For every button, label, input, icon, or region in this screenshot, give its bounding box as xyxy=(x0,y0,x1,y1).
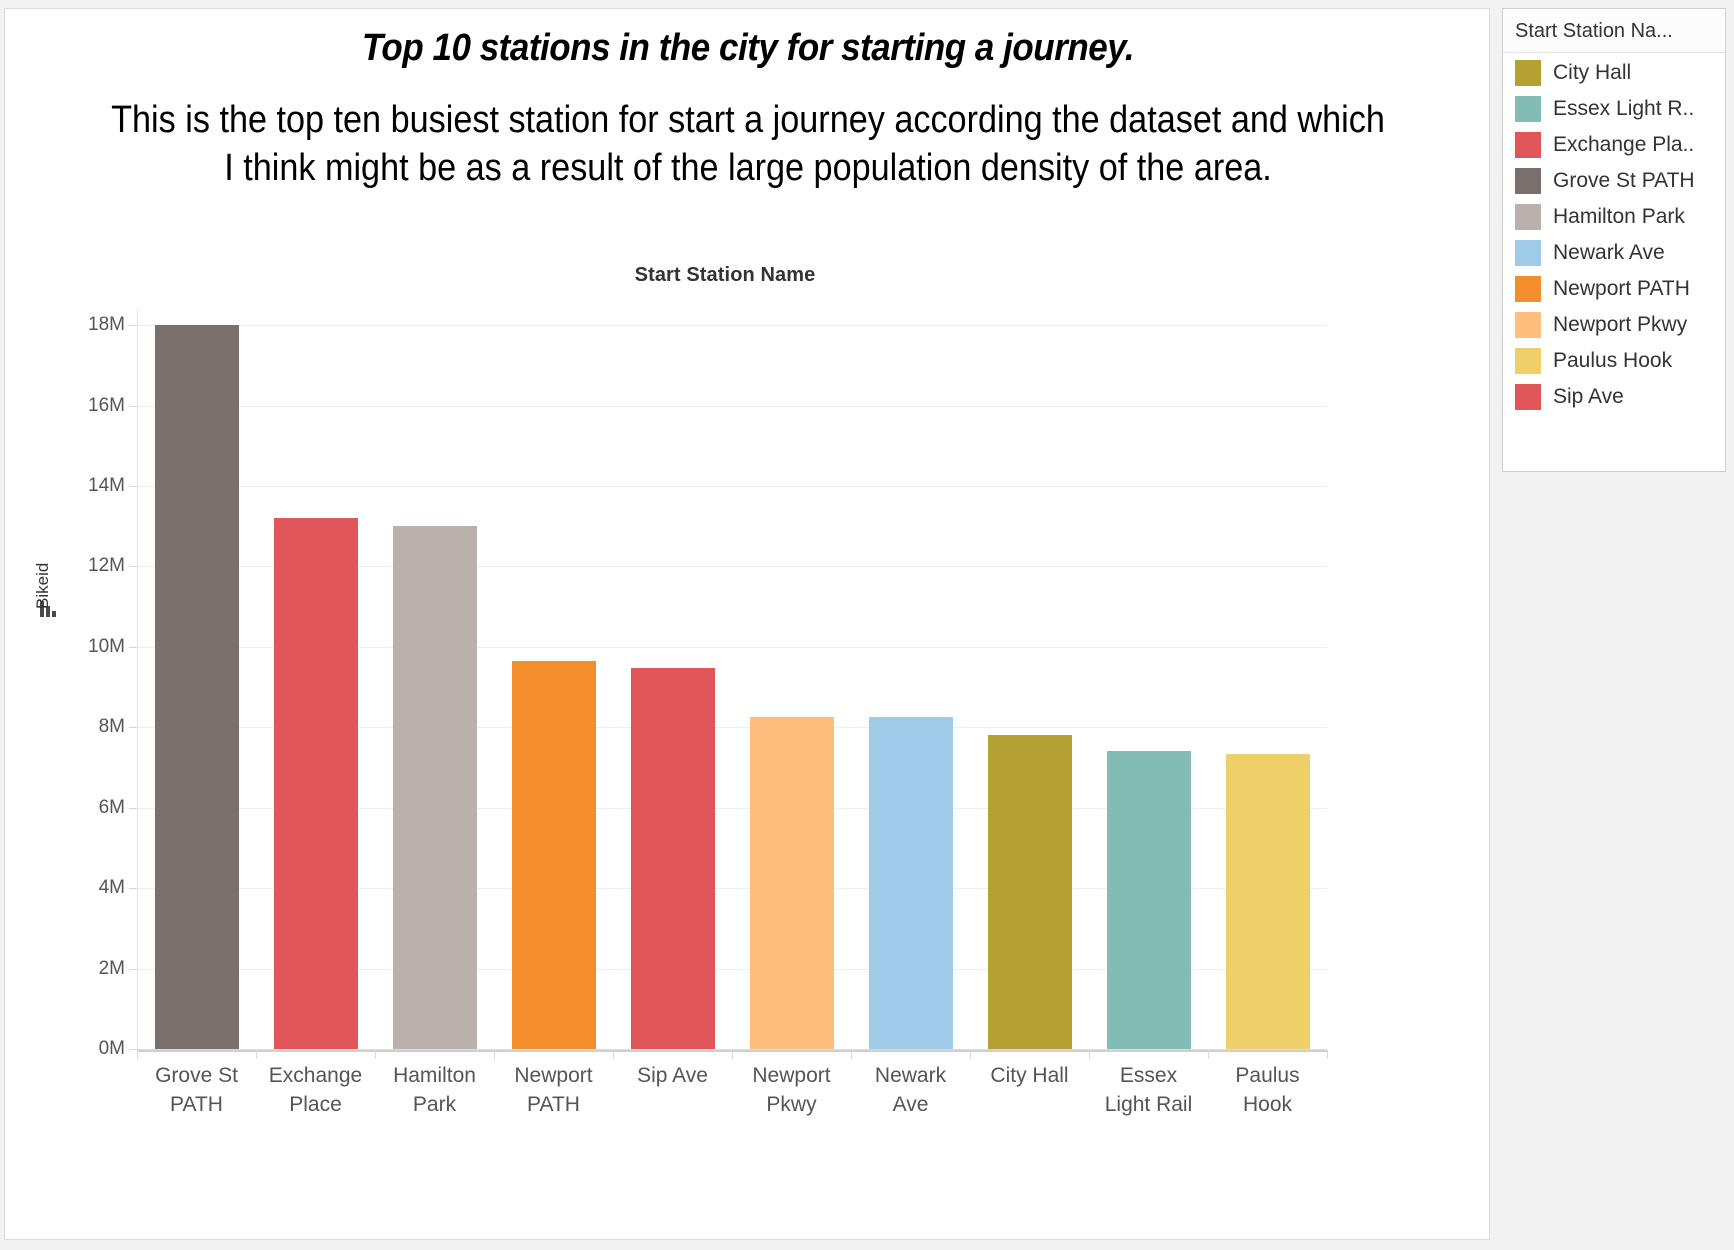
x-tick-mark xyxy=(1208,1050,1209,1059)
plot-area: Bikeid 0M2M4M6M8M10M12M14M16M18M Grove S… xyxy=(5,9,1491,1241)
legend-color-swatch xyxy=(1515,348,1541,374)
x-axis-tick-label[interactable]: ExchangePlace xyxy=(256,1062,375,1120)
bar[interactable] xyxy=(869,717,953,1049)
bar-slot xyxy=(613,309,732,1049)
x-tick-mark xyxy=(1089,1050,1090,1059)
x-axis-tick-label[interactable]: NewportPkwy xyxy=(732,1062,851,1120)
x-axis-tick-label[interactable]: NewarkAve xyxy=(851,1062,970,1120)
bar[interactable] xyxy=(274,518,358,1049)
x-axis-tick-label[interactable]: HamiltonPark xyxy=(375,1062,494,1120)
bar-slot xyxy=(1208,309,1327,1049)
legend-item[interactable]: Hamilton Park xyxy=(1503,199,1725,235)
bar-slot xyxy=(851,309,970,1049)
worksheet-panel: Top 10 stations in the city for starting… xyxy=(4,8,1490,1240)
legend-item-label: Hamilton Park xyxy=(1553,205,1685,229)
y-axis-tick-label: 12M xyxy=(88,555,125,577)
y-tick-mark xyxy=(129,808,137,809)
bar-slot xyxy=(732,309,851,1049)
bar-slot xyxy=(494,309,613,1049)
y-axis-tick-label: 14M xyxy=(88,475,125,497)
x-tick-mark xyxy=(613,1050,614,1059)
legend-item-label: Paulus Hook xyxy=(1553,349,1672,373)
legend-color-swatch xyxy=(1515,312,1541,338)
y-tick-mark xyxy=(129,888,137,889)
y-axis-tick-label: 0M xyxy=(99,1038,125,1060)
legend-item[interactable]: Essex Light R.. xyxy=(1503,91,1725,127)
legend-item[interactable]: Exchange Pla.. xyxy=(1503,127,1725,163)
legend-color-swatch xyxy=(1515,276,1541,302)
x-tick-mark xyxy=(970,1050,971,1059)
x-axis-tick-label[interactable]: Sip Ave xyxy=(613,1062,732,1091)
legend-item[interactable]: Newport Pkwy xyxy=(1503,307,1725,343)
legend-color-swatch xyxy=(1515,384,1541,410)
bar[interactable] xyxy=(1107,751,1191,1049)
bar-slot xyxy=(137,309,256,1049)
dashboard-page: Top 10 stations in the city for starting… xyxy=(0,0,1734,1250)
y-tick-mark xyxy=(129,647,137,648)
legend-item-label: Newark Ave xyxy=(1553,241,1665,265)
y-tick-mark xyxy=(129,566,137,567)
y-axis-tick-labels: 0M2M4M6M8M10M12M14M16M18M xyxy=(65,309,125,1049)
x-tick-mark xyxy=(494,1050,495,1059)
x-axis-ticks xyxy=(137,1050,1327,1060)
y-tick-mark xyxy=(129,486,137,487)
legend-item-label: Grove St PATH xyxy=(1553,169,1695,193)
x-axis-tick-label[interactable]: PaulusHook xyxy=(1208,1062,1327,1120)
x-axis-tick-label[interactable]: City Hall xyxy=(970,1062,1089,1091)
legend-color-swatch xyxy=(1515,132,1541,158)
bar-slot xyxy=(375,309,494,1049)
legend-color-swatch xyxy=(1515,240,1541,266)
legend-item-label: Exchange Pla.. xyxy=(1553,133,1694,157)
bar[interactable] xyxy=(512,661,596,1049)
y-axis-tick-label: 2M xyxy=(99,958,125,980)
legend-item[interactable]: Newark Ave xyxy=(1503,235,1725,271)
legend-item-label: Newport PATH xyxy=(1553,277,1690,301)
legend-item-list: City HallEssex Light R..Exchange Pla..Gr… xyxy=(1503,55,1725,415)
legend-item[interactable]: Newport PATH xyxy=(1503,271,1725,307)
x-axis-tick-label[interactable]: Grove StPATH xyxy=(137,1062,256,1120)
y-axis-tick-label: 18M xyxy=(88,314,125,336)
y-axis-tick-label: 4M xyxy=(99,877,125,899)
legend-color-swatch xyxy=(1515,96,1541,122)
legend-item[interactable]: City Hall xyxy=(1503,55,1725,91)
x-tick-mark xyxy=(851,1050,852,1059)
bar[interactable] xyxy=(988,735,1072,1049)
y-tick-mark xyxy=(129,969,137,970)
legend-color-swatch xyxy=(1515,168,1541,194)
x-tick-mark xyxy=(732,1050,733,1059)
legend-item[interactable]: Grove St PATH xyxy=(1503,163,1725,199)
legend-item-label: City Hall xyxy=(1553,61,1631,85)
x-tick-mark xyxy=(375,1050,376,1059)
y-axis-tick-label: 10M xyxy=(88,636,125,658)
y-axis-tick-label: 16M xyxy=(88,395,125,417)
legend-item[interactable]: Sip Ave xyxy=(1503,379,1725,415)
y-axis-tick-label: 6M xyxy=(99,797,125,819)
y-tick-mark xyxy=(129,727,137,728)
bar-slot xyxy=(970,309,1089,1049)
x-tick-mark xyxy=(1327,1050,1328,1059)
y-tick-mark xyxy=(129,325,137,326)
legend-item-label: Sip Ave xyxy=(1553,385,1624,409)
x-axis-tick-labels: Grove StPATHExchangePlaceHamiltonParkNew… xyxy=(137,1062,1327,1152)
legend-title: Start Station Na... xyxy=(1503,9,1725,53)
y-axis-tick-label: 8M xyxy=(99,716,125,738)
y-axis-title: Bikeid xyxy=(33,563,53,609)
y-tick-mark xyxy=(129,1049,137,1050)
bar[interactable] xyxy=(631,668,715,1049)
legend-color-swatch xyxy=(1515,60,1541,86)
bar-series xyxy=(137,309,1327,1049)
y-tick-mark xyxy=(129,406,137,407)
x-tick-mark xyxy=(256,1050,257,1059)
bar-slot xyxy=(256,309,375,1049)
x-axis-tick-label[interactable]: EssexLight Rail xyxy=(1089,1062,1208,1120)
bar[interactable] xyxy=(750,717,834,1049)
color-legend[interactable]: Start Station Na... City HallEssex Light… xyxy=(1502,8,1726,472)
legend-item[interactable]: Paulus Hook xyxy=(1503,343,1725,379)
bar[interactable] xyxy=(1226,754,1310,1049)
legend-item-label: Essex Light R.. xyxy=(1553,97,1694,121)
x-axis-tick-label[interactable]: NewportPATH xyxy=(494,1062,613,1120)
bar-slot xyxy=(1089,309,1208,1049)
legend-color-swatch xyxy=(1515,204,1541,230)
x-tick-mark xyxy=(137,1050,138,1059)
legend-item-label: Newport Pkwy xyxy=(1553,313,1687,337)
bar[interactable] xyxy=(393,526,477,1049)
bar[interactable] xyxy=(155,325,239,1049)
